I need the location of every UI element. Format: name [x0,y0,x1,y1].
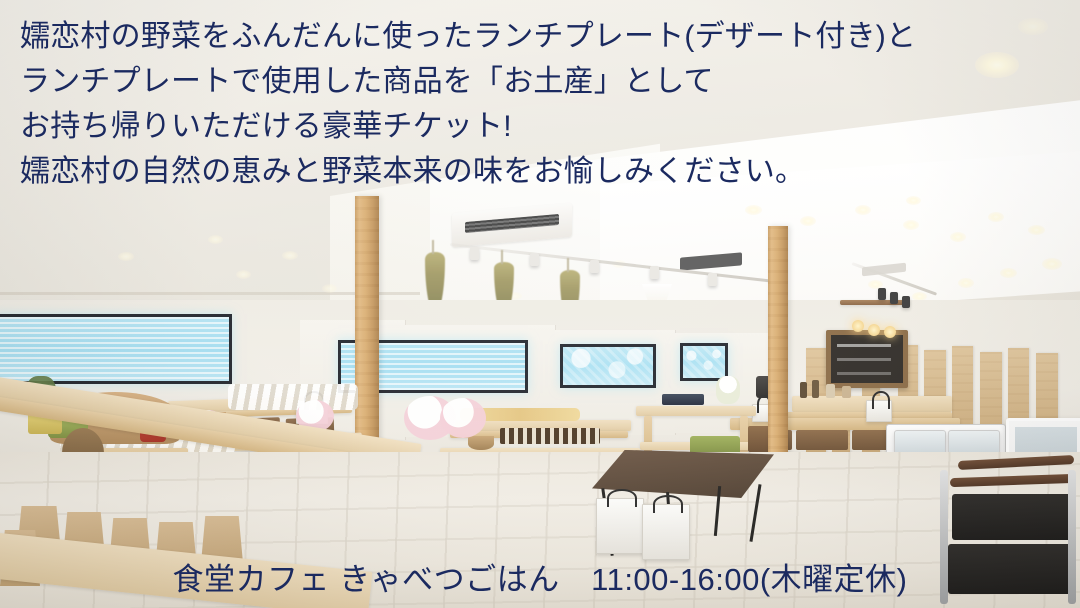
center-back-table [636,406,756,416]
pendant-beam [840,300,910,305]
bottle-row-icon [500,428,600,444]
headline-line-3: お持ち帰りいただける豪華チケット! [20,104,1060,149]
headline-line-2: ランチプレートで使用した商品を「お土産」として [20,59,1060,104]
packaged-goods-cluster [228,384,358,410]
window-center [560,344,656,388]
headline-block: 嬬恋村の野菜をふんだんに使ったランチプレート(デザート付き)と ランチプレートで… [20,14,1060,194]
product-card [866,400,892,422]
pendant-shade-icon [878,288,886,300]
downlight-icon [236,270,251,279]
downlight-icon [903,220,919,230]
vase-flower-icon [716,376,740,404]
jar-icon [826,384,835,398]
downlight-icon [745,205,762,215]
pendant-light-bulb-icon [852,320,864,332]
pendant-light-bulb-icon [868,324,880,336]
cart-bag-front [952,494,1074,540]
downlight-icon [1042,258,1062,270]
downlight-icon [906,196,921,205]
track-spotlight [530,253,539,266]
downlight-icon [208,235,223,244]
pendant-light-bulb-icon [884,326,896,338]
track-spotlight [470,247,479,260]
window-right [680,343,728,381]
jar-icon [842,386,851,398]
track-spotlight [708,273,717,286]
track-spotlight [590,260,599,273]
bottle-icon [812,380,819,398]
downlight-icon [800,216,816,226]
downlight-icon [1000,268,1017,278]
promo-banner: 嬬恋村の野菜をふんだんに使ったランチプレート(デザート付き)と ランチプレートで… [0,0,1080,608]
chair-icon [748,426,770,452]
downlight-icon [322,284,337,293]
pendant-shade-icon [902,296,910,308]
track-spotlight [650,266,659,279]
downlight-icon [958,278,974,288]
downlight-icon [950,232,966,242]
headline-line-1: 嬬恋村の野菜をふんだんに使ったランチプレート(デザート付き)と [20,14,1060,59]
shelf-bin [796,430,848,450]
downlight-icon [118,252,134,261]
downlight-icon [988,212,1004,222]
downlight-icon [1028,225,1045,235]
pendant-shade-icon [890,292,898,304]
basket-icon [468,436,494,450]
shop-caption-text: 食堂カフェ きゃべつごはん 11:00-16:00(木曜定休) [173,562,908,597]
flower-bouquet [440,398,486,438]
downlight-icon [282,251,298,260]
bottle-icon [800,382,807,398]
tray-icon [662,394,704,405]
headline-line-4: 嬬恋村の自然の恵みと野菜本来の味をお愉しみください。 [20,149,1060,194]
chalkboard-menu [826,330,908,388]
shopping-bag-front [642,504,690,560]
downlight-icon [855,205,871,215]
shopping-bag-front [596,498,644,554]
shop-caption: 食堂カフェ きゃべつごはん 11:00-16:00(木曜定休) [0,560,1080,600]
window-left [0,314,232,384]
